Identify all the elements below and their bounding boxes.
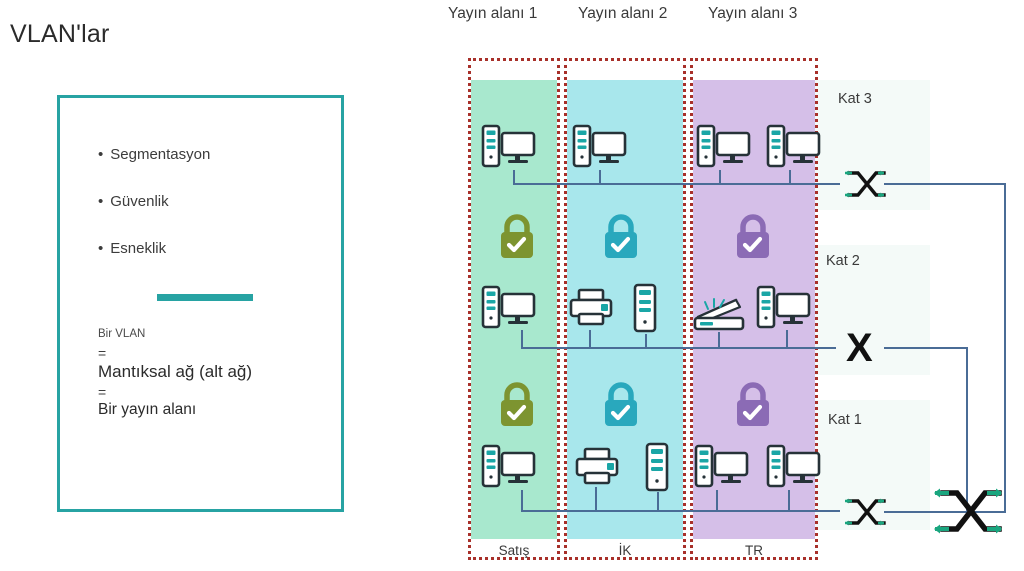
server-tower-icon[interactable] bbox=[645, 442, 669, 497]
desktop-computer-icon[interactable] bbox=[694, 444, 750, 495]
drop-wire bbox=[645, 334, 647, 348]
vlan-topology-diagram: Yayın alanı 1 Yayın alanı 2 Yayın alanı … bbox=[0, 0, 1024, 571]
drop-wire bbox=[789, 170, 791, 184]
broadcast-domain-label-1: Yayın alanı 1 bbox=[448, 5, 537, 23]
uplink-wire-floor3 bbox=[884, 183, 1006, 185]
core-switch-icon[interactable] bbox=[925, 480, 1009, 547]
scanner-icon[interactable] bbox=[692, 295, 748, 338]
lock-icon bbox=[600, 378, 642, 430]
floor-bus-2 bbox=[521, 347, 836, 349]
drop-wire bbox=[788, 490, 790, 511]
vlan-caption-hr: İK bbox=[567, 543, 683, 558]
drop-wire bbox=[718, 332, 720, 348]
desktop-computer-icon[interactable] bbox=[696, 124, 752, 175]
lock-icon bbox=[600, 210, 642, 262]
lock-icon bbox=[496, 378, 538, 430]
desktop-computer-icon[interactable] bbox=[766, 124, 822, 175]
drop-wire bbox=[786, 330, 788, 348]
floor-label-3: Kat 3 bbox=[838, 91, 872, 107]
drop-wire bbox=[589, 330, 591, 348]
drop-wire bbox=[716, 490, 718, 511]
floor-bus-3 bbox=[513, 183, 840, 185]
slide-canvas: VLAN'lar •Segmentasyon •Güvenlik •Esnekl… bbox=[0, 0, 1024, 571]
broadcast-domain-label-2: Yayın alanı 2 bbox=[578, 5, 667, 23]
uplink-wire-floor2 bbox=[884, 347, 968, 349]
desktop-computer-icon[interactable] bbox=[481, 124, 537, 175]
router-x-icon[interactable]: X bbox=[846, 328, 873, 368]
vlan-caption-tr: TR bbox=[693, 543, 815, 558]
floor-label-2: Kat 2 bbox=[826, 253, 860, 269]
desktop-computer-icon[interactable] bbox=[766, 444, 822, 495]
drop-wire bbox=[599, 170, 601, 184]
lock-icon bbox=[732, 378, 774, 430]
drop-wire bbox=[521, 490, 523, 511]
desktop-computer-icon[interactable] bbox=[756, 285, 812, 336]
drop-wire bbox=[657, 492, 659, 511]
printer-icon[interactable] bbox=[568, 288, 614, 333]
drop-wire bbox=[513, 170, 515, 184]
printer-icon[interactable] bbox=[574, 447, 620, 492]
vlan-caption-sales: Satış bbox=[471, 543, 557, 558]
floor-bus-1 bbox=[521, 510, 840, 512]
drop-wire bbox=[719, 170, 721, 184]
drop-wire bbox=[521, 330, 523, 348]
server-tower-icon[interactable] bbox=[633, 283, 657, 338]
network-switch-icon[interactable] bbox=[840, 494, 886, 535]
drop-wire bbox=[595, 487, 597, 511]
lock-icon bbox=[732, 210, 774, 262]
floor-label-1: Kat 1 bbox=[828, 412, 862, 428]
desktop-computer-icon[interactable] bbox=[481, 285, 537, 336]
broadcast-domain-label-3: Yayın alanı 3 bbox=[708, 5, 797, 23]
network-switch-icon[interactable] bbox=[840, 166, 886, 207]
desktop-computer-icon[interactable] bbox=[481, 444, 537, 495]
uplink-wire-floor3-vertical bbox=[1004, 183, 1006, 512]
lock-icon bbox=[496, 210, 538, 262]
desktop-computer-icon[interactable] bbox=[572, 124, 628, 175]
